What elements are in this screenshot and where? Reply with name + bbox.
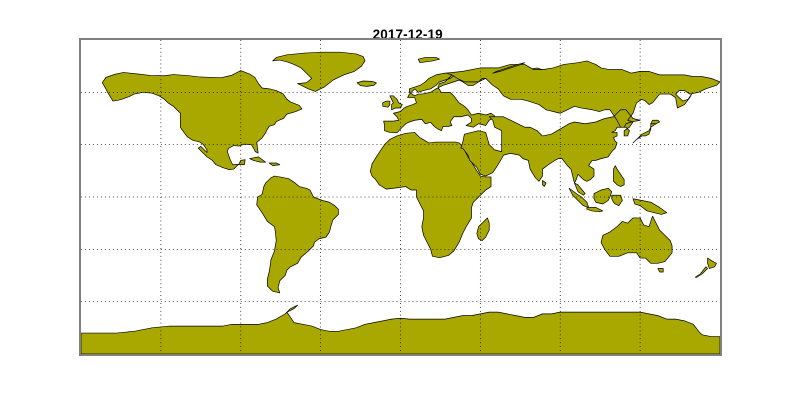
landmass-borneo (594, 188, 612, 204)
landmass-java (587, 207, 603, 211)
landmass-philippines (614, 166, 625, 187)
landmass-asia (447, 61, 720, 195)
land-layer (81, 52, 720, 354)
landmass-new-zealand-n (708, 258, 717, 268)
plot-area (81, 40, 720, 354)
landmass-iceland (357, 81, 377, 86)
landmass-new-zealand-s (695, 267, 707, 277)
landmass-hispaniola (269, 163, 280, 166)
landmass-north-america (102, 71, 302, 170)
plot-frame (79, 38, 722, 356)
landmass-new-guinea (633, 199, 667, 215)
landmass-ireland (383, 101, 390, 107)
landmass-svalbard (418, 57, 439, 62)
landmass-south-america (257, 176, 339, 293)
landmass-tasmania (658, 269, 663, 272)
landmass-madagascar (477, 218, 489, 241)
landmass-japan-n (651, 120, 660, 123)
landmass-greenland (273, 52, 365, 91)
orbit-map-figure: 2017-12-19 Version: 5.00 Standard Nightt… (0, 0, 800, 400)
landmass-sri-lanka (543, 180, 547, 186)
world-map-svg (81, 40, 720, 354)
landmass-cuba (250, 157, 266, 162)
landmass-australia (601, 216, 672, 263)
